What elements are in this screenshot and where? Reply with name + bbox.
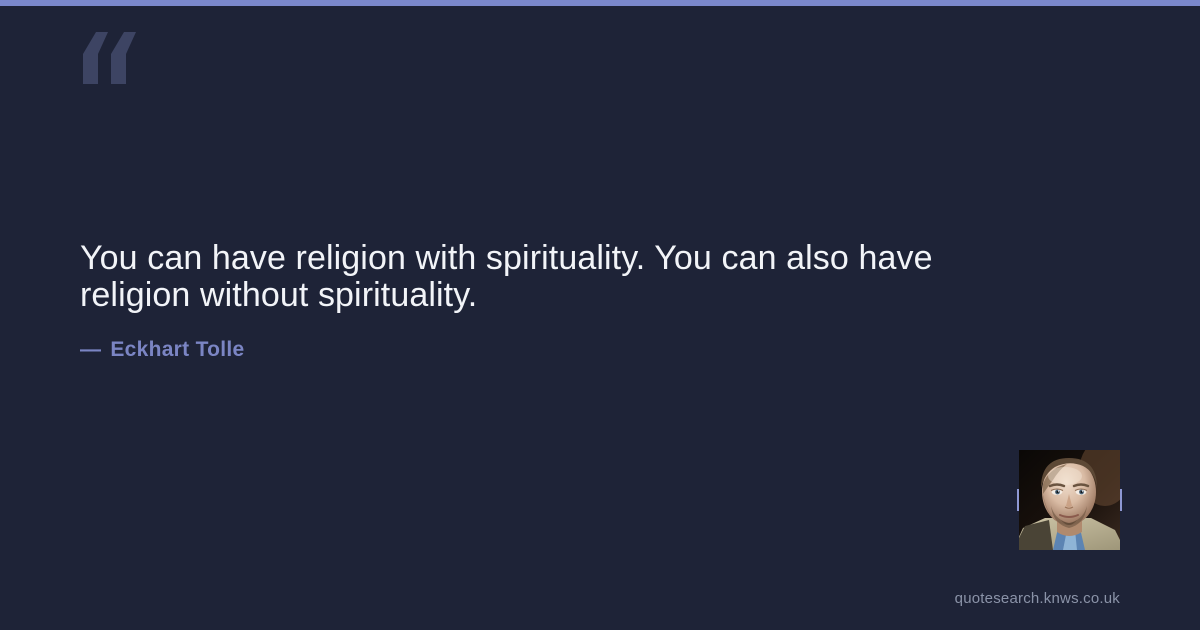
quote-text: You can have religion with spirituality.… [80, 240, 1040, 313]
top-accent-bar [0, 0, 1200, 6]
quote-card: You can have religion with spirituality.… [0, 0, 1200, 630]
source-url: quotesearch.knws.co.uk [955, 590, 1120, 607]
author-portrait [1019, 450, 1120, 550]
quote-attribution: — Eckhart Tolle [80, 338, 245, 362]
attribution-dash: — [80, 338, 101, 362]
author-name: Eckhart Tolle [110, 338, 244, 362]
open-quote-icon [80, 32, 140, 84]
